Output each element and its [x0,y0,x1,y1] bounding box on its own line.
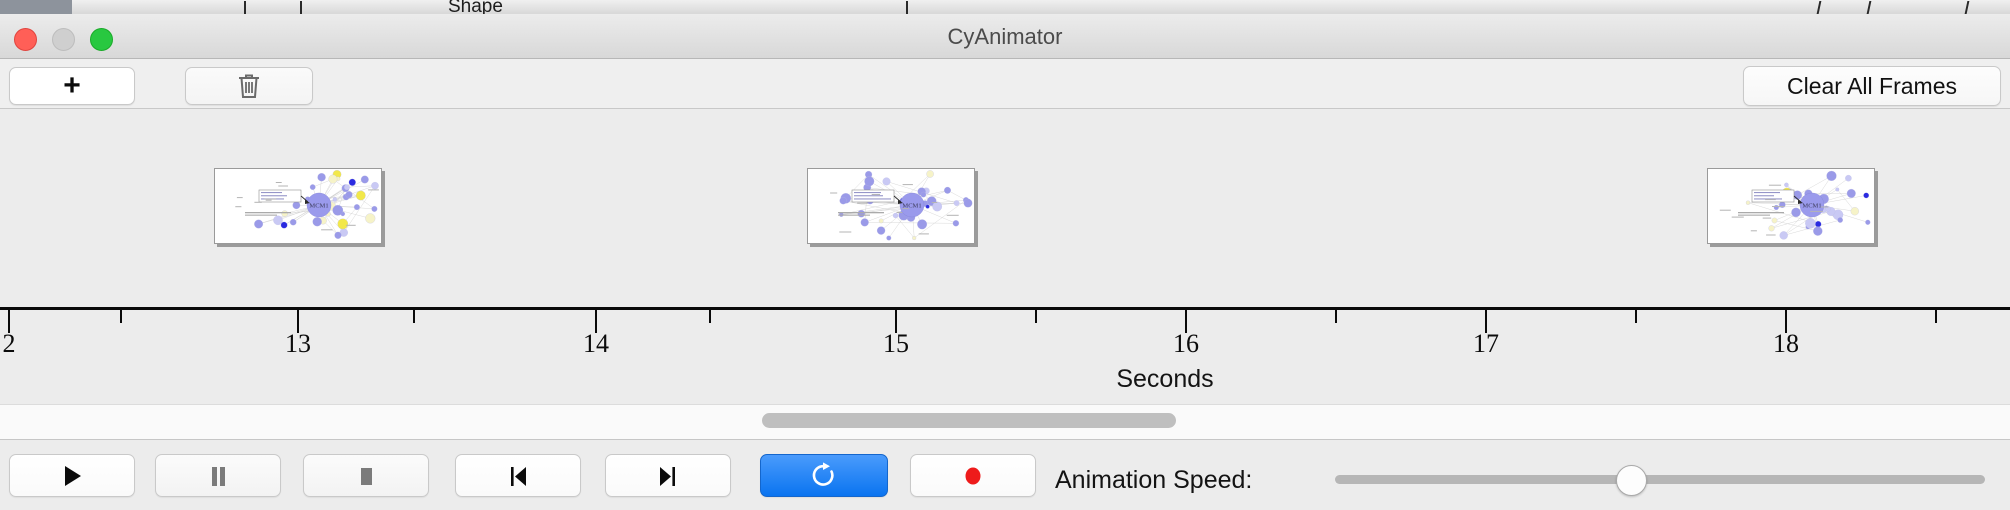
cyanimator-window: Shape CyAnimator + Clear All Frames MCM1… [0,0,2010,510]
axis-tick-label: 18 [1773,329,1799,359]
axis-tick-label: 15 [883,329,909,359]
background-window-dark-segment [0,0,72,14]
timeline-axis [0,307,2010,310]
axis-tick-label: 13 [285,329,311,359]
play-button[interactable] [9,454,135,497]
animation-speed-slider-knob[interactable] [1616,465,1647,496]
record-button[interactable] [910,454,1036,497]
timeline-frame[interactable]: MCM1 [1707,168,1875,244]
skip-start-icon [505,462,531,490]
record-icon [960,462,986,490]
timeline-scrollbar-thumb[interactable] [762,413,1176,428]
stop-button[interactable] [303,454,429,497]
animation-speed-slider[interactable] [1335,475,1985,484]
axis-tick [120,310,122,323]
background-window-shape-label: Shape [448,0,503,15]
trash-icon [236,72,262,100]
axis-caption-label: Seconds [1116,365,1213,393]
timeline-frame[interactable]: MCM1 [807,168,975,244]
axis-caption: Seconds [0,365,2010,394]
axis-tick [709,310,711,323]
timeline-scrollbar-track[interactable] [0,404,2010,440]
axis-tick-label: 2 [3,329,16,359]
axis-tick [1935,310,1937,323]
play-icon [59,462,85,490]
stop-icon [353,462,379,490]
animation-speed-label: Animation Speed: [1055,466,1252,495]
plus-icon: + [63,71,81,101]
playback-control-bar: Animation Speed: [0,439,2010,510]
background-window-sliver: Shape [0,0,2010,15]
axis-tick [1335,310,1337,323]
skip-to-start-button[interactable] [455,454,581,497]
clear-all-frames-label: Clear All Frames [1787,73,1957,100]
title-bar: CyAnimator [0,14,2010,59]
axis-tick [413,310,415,323]
loop-icon [810,461,838,491]
pause-icon [205,462,231,490]
axis-tick [1635,310,1637,323]
pause-button[interactable] [155,454,281,497]
axis-tick-label: 14 [583,329,609,359]
svg-text:MCM1: MCM1 [309,203,328,210]
timeline-frame[interactable]: MCM1 [214,168,382,244]
clear-all-frames-button[interactable]: Clear All Frames [1743,66,2001,106]
add-frame-button[interactable]: + [9,67,135,105]
axis-tick-label: 17 [1473,329,1499,359]
skip-end-icon [655,462,681,490]
window-title: CyAnimator [0,24,2010,50]
svg-text:MCM1: MCM1 [1802,203,1821,210]
skip-to-end-button[interactable] [605,454,731,497]
loop-button[interactable] [760,454,888,497]
delete-frame-button[interactable] [185,67,313,105]
axis-tick-label: 16 [1173,329,1199,359]
timeline-panel[interactable]: MCM1MCM1MCM1 2131415161718 Seconds [0,109,2010,403]
toolbar: + Clear All Frames [0,59,2010,109]
axis-tick [1035,310,1037,323]
